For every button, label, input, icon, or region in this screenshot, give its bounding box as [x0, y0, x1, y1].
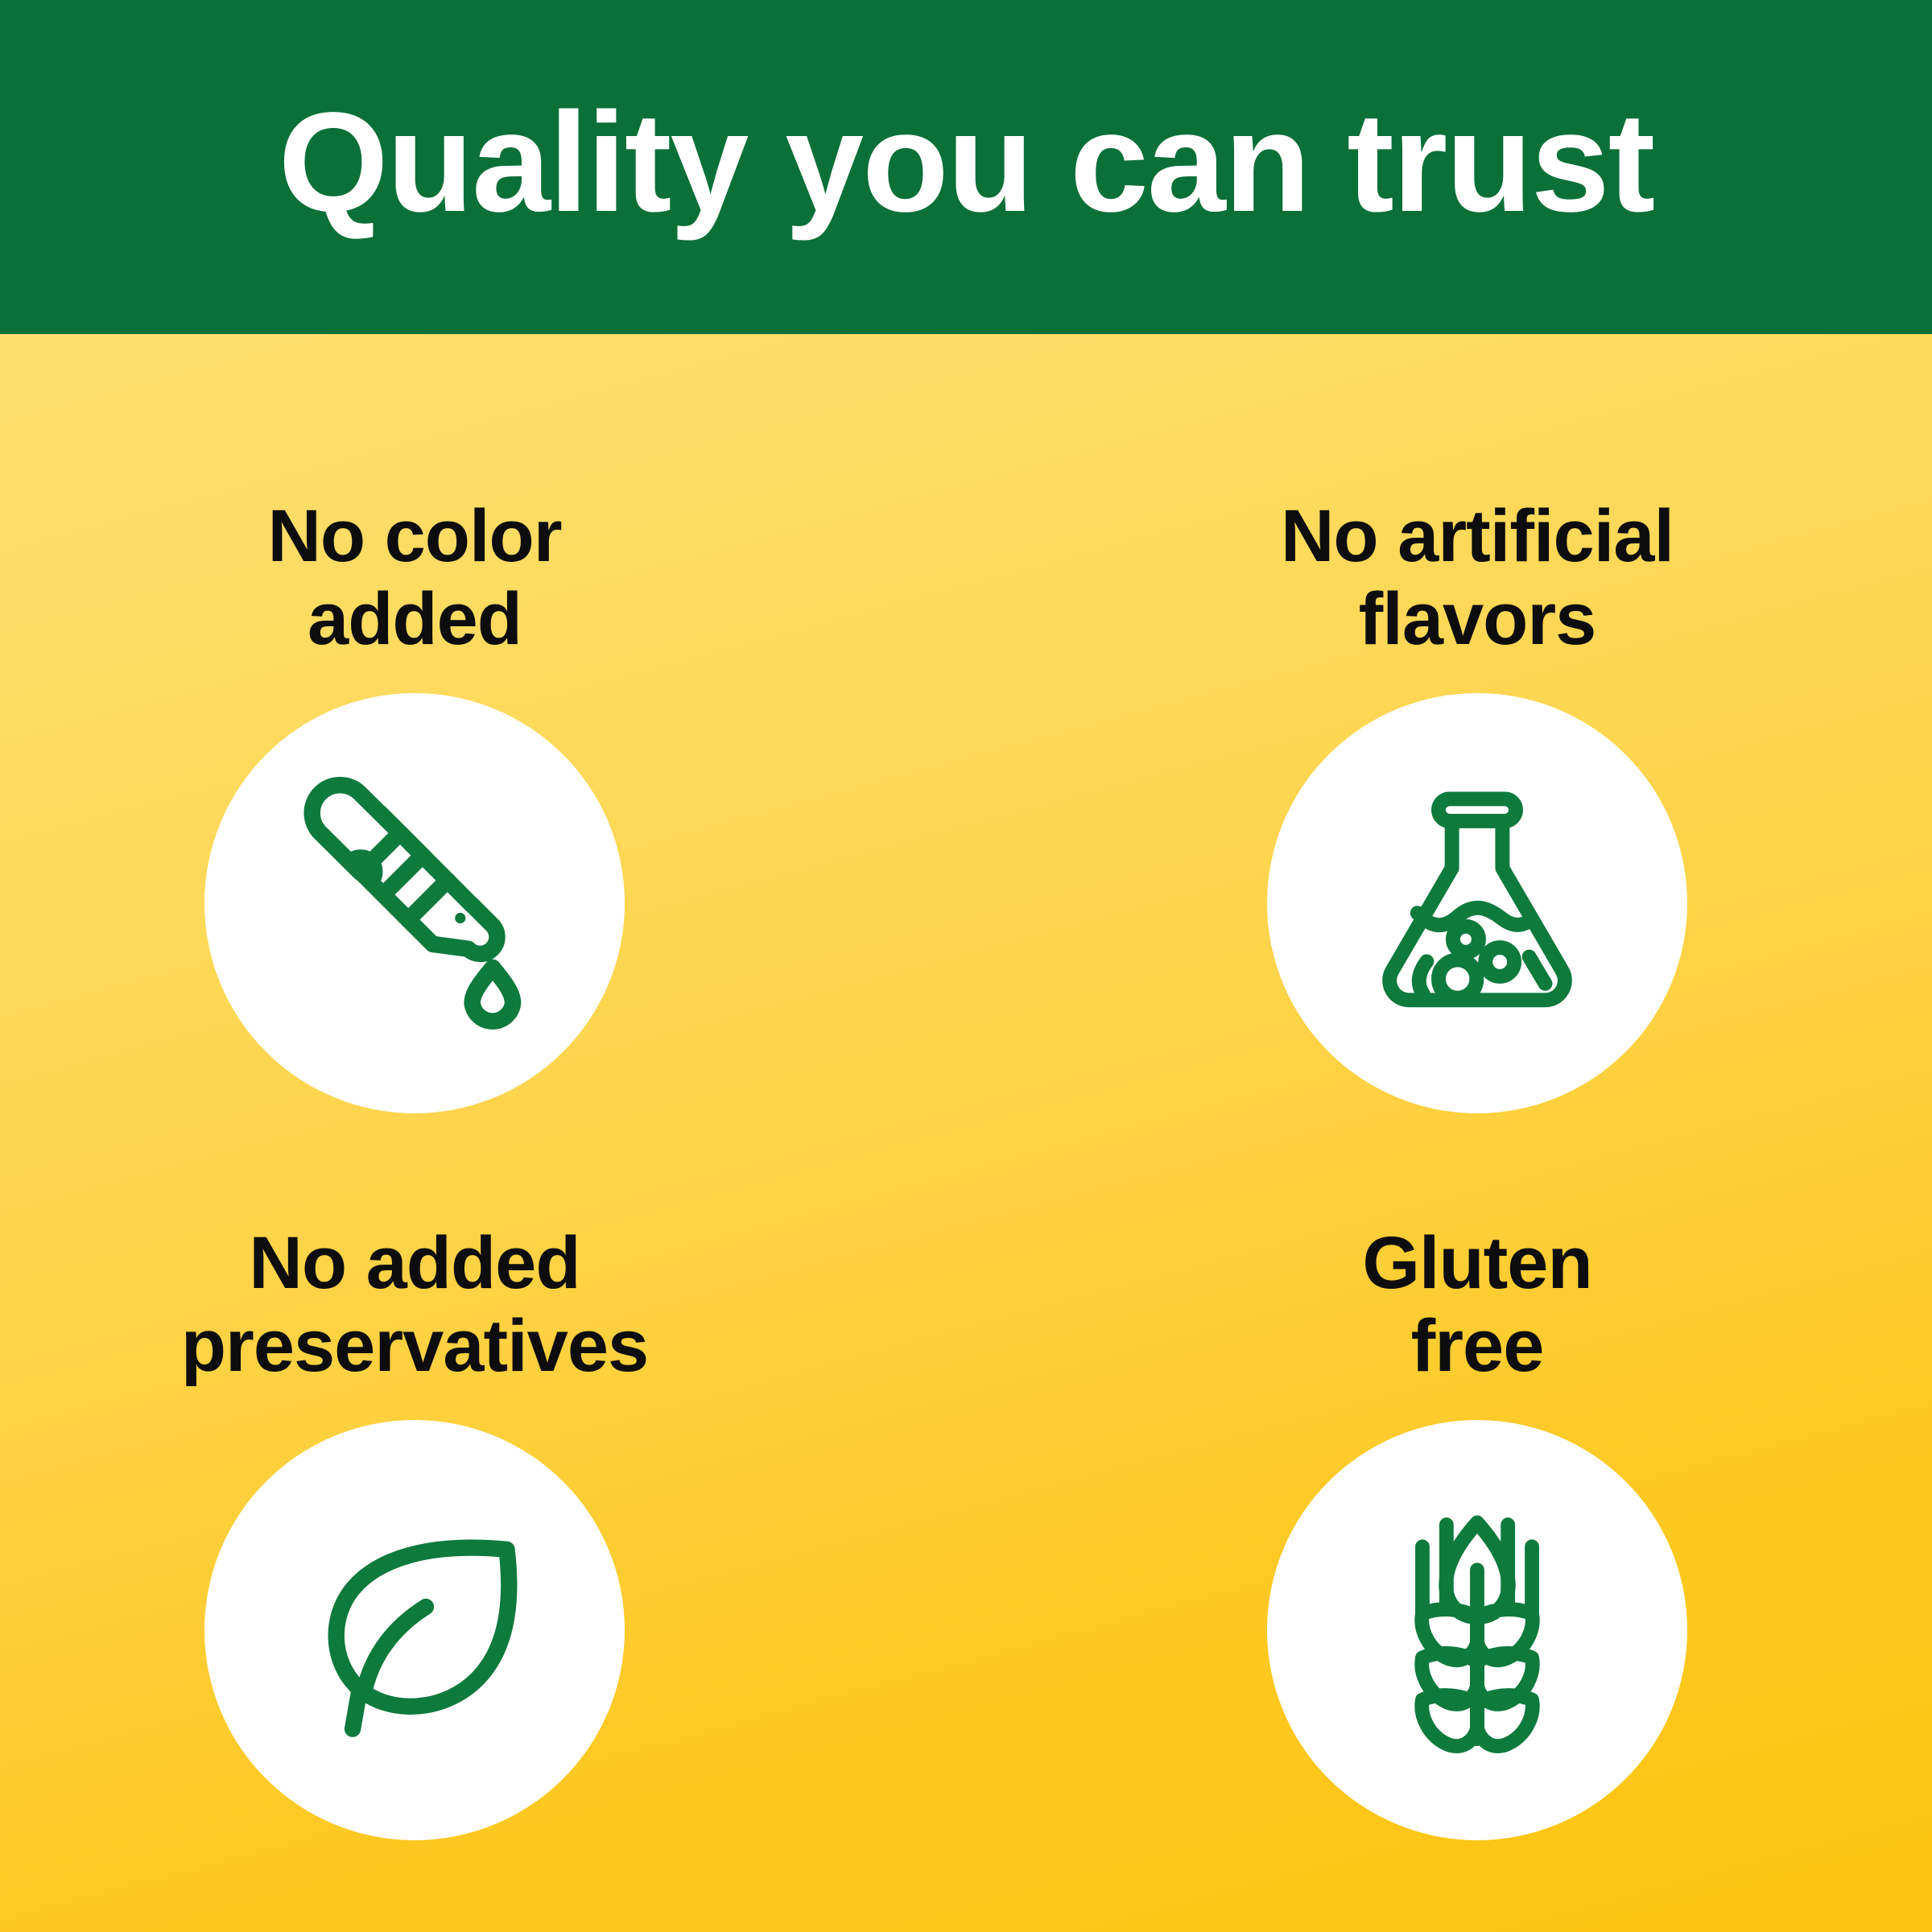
badge-icon-circle: [1267, 1420, 1687, 1840]
badge-no-artificial-flavors: No artificial flavors: [966, 334, 1932, 1133]
dropper-icon: [282, 770, 547, 1036]
badge-icon-circle: [204, 1420, 625, 1840]
page-title: Quality you can trust: [279, 92, 1654, 233]
quality-badges-poster: Quality you can trust No color added: [0, 0, 1932, 1932]
badge-gluten-free: Gluten free: [966, 1133, 1932, 1932]
badge-label: No added preservatives: [181, 1222, 648, 1388]
badge-label: Gluten free: [1362, 1222, 1591, 1388]
leaf-icon: [287, 1502, 543, 1758]
badge-icon-circle: [1267, 693, 1687, 1113]
badge-no-color-added: No color added: [0, 334, 966, 1133]
badge-no-added-preservatives: No added preservatives: [0, 1133, 966, 1932]
badge-icon-circle: [204, 693, 625, 1113]
badge-grid: No color added: [0, 334, 1932, 1932]
wheat-icon: [1349, 1502, 1605, 1758]
badge-label: No color added: [267, 495, 561, 661]
header-band: Quality you can trust: [0, 0, 1932, 334]
badge-label: No artificial flavors: [1281, 495, 1674, 661]
flask-icon: [1348, 774, 1606, 1032]
